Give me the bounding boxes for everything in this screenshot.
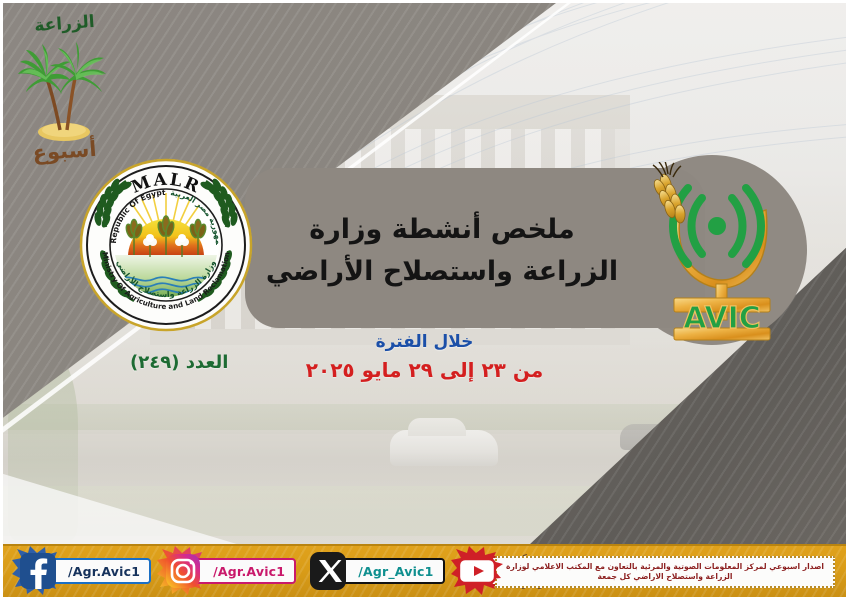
poster-canvas: الزراعة xyxy=(0,0,849,600)
period-label: خلال الفترة xyxy=(0,332,849,352)
instagram-icon[interactable] xyxy=(163,551,203,591)
avic-logo: AVIC xyxy=(630,162,800,342)
social-item-instagram[interactable]: /Agr.Avic1 xyxy=(163,550,296,592)
palm-tree-icon xyxy=(12,36,117,144)
period-dates: من ٢٣ إلى ٢٩ مايو ٢٠٢٥ xyxy=(0,358,849,382)
logo-top-label: الزراعة xyxy=(11,10,117,37)
issue-number: العدد (٢٤٩) xyxy=(130,352,228,373)
facebook-handle[interactable]: /Agr.Avic1 xyxy=(50,558,151,584)
youtube-icon[interactable] xyxy=(457,551,497,591)
footer-note: اصدار اسبوعي لمركز المعلومات الصوتية وال… xyxy=(495,556,835,588)
social-links-row: /Agr.Avic1 xyxy=(18,548,561,594)
avic-wordmark: AVIC xyxy=(683,301,761,336)
x-handle[interactable]: /Agr_Avic1 xyxy=(340,558,444,584)
instagram-handle[interactable]: /Agr.Avic1 xyxy=(195,558,296,584)
social-item-facebook[interactable]: /Agr.Avic1 xyxy=(18,550,151,592)
title-line-1: ملخص أنشطة وزارة xyxy=(309,212,574,248)
broadcast-center-dot xyxy=(708,217,726,235)
x-twitter-icon[interactable] xyxy=(308,551,348,591)
poster-title: ملخص أنشطة وزارة الزراعة واستصلاح الأراض… xyxy=(262,186,622,316)
agriculture-week-logo: الزراعة xyxy=(12,14,117,159)
social-item-x[interactable]: /Agr_Avic1 xyxy=(308,550,444,592)
bottom-bar: /Agr.Avic1 xyxy=(0,544,849,600)
malr-ministry-seal: MALR Arab Republic Of Egypt Ministry Of … xyxy=(78,157,254,333)
facebook-icon[interactable] xyxy=(18,551,58,591)
title-line-2: الزراعة واستصلاح الأراضي xyxy=(266,254,618,290)
